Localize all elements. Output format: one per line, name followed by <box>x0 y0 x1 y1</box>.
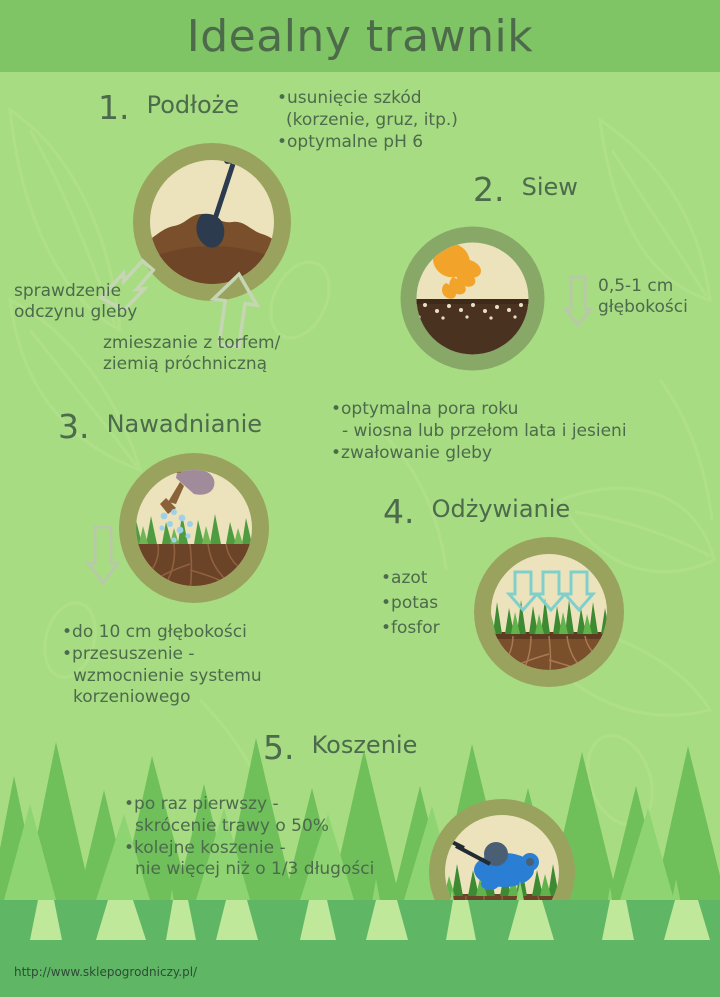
bullet-dot: • <box>62 622 72 642</box>
bullet-dot: • <box>381 568 391 588</box>
arrow-watering-depth <box>85 525 123 587</box>
step-2-illustration-sowing <box>399 225 546 372</box>
step-1-number: 1. <box>98 88 130 127</box>
bullet-dot: • <box>124 794 134 814</box>
step-3-heading: 3. Nawadnianie <box>58 407 262 446</box>
bullet-dot: • <box>62 644 72 664</box>
step-3-illustration-watering <box>118 452 270 604</box>
step-1-bullets: •usunięcie szkód (korzenie, gruz, itp.) … <box>277 88 458 153</box>
page-title: Idealny trawnik <box>187 11 533 62</box>
infographic-canvas: Idealny trawnik 1. Podłoże •usunięcie sz… <box>0 0 720 997</box>
list-item: •po raz pierwszy - <box>124 794 374 816</box>
footer-grass-top <box>0 900 720 940</box>
header-band: Idealny trawnik <box>0 0 720 72</box>
list-item: •fosfor <box>381 616 440 641</box>
step-3-number: 3. <box>58 407 90 446</box>
bullet-dot: • <box>381 618 391 638</box>
source-url[interactable]: http://www.sklepogrodniczy.pl/ <box>14 965 197 979</box>
list-item: •kolejne koszenie - <box>124 838 374 860</box>
step-4-bullets: •azot •potas •fosfor <box>381 566 440 641</box>
list-item: •optymalne pH 6 <box>277 132 458 154</box>
step-3-bullets: •do 10 cm głębokości •przesuszenie - wzm… <box>62 622 262 709</box>
step-5-title: Koszenie <box>312 731 418 759</box>
list-item: •zwałowanie gleby <box>331 443 627 465</box>
step-1-title: Podłoże <box>147 91 239 119</box>
step-3-title: Nawadnianie <box>107 410 262 438</box>
list-item: •do 10 cm głębokości <box>62 622 262 644</box>
bullet-dot: • <box>124 838 134 858</box>
list-item: skrócenie trawy o 50% <box>124 816 374 838</box>
list-item: korzeniowego <box>62 687 262 709</box>
list-item: •potas <box>381 591 440 616</box>
step-4-title: Odżywianie <box>432 495 571 523</box>
step-5-bullets: •po raz pierwszy - skrócenie trawy o 50%… <box>124 794 374 881</box>
footer-band: http://www.sklepogrodniczy.pl/ <box>0 900 720 997</box>
nutrient-arrows-grass-icon <box>473 536 625 688</box>
step-2-bullets: •optymalna pora roku - wiosna lub przeło… <box>331 399 627 464</box>
bullet-dot: • <box>331 443 341 463</box>
arrow-sowing-depth <box>563 275 595 329</box>
bullet-dot: • <box>381 593 391 613</box>
step-1-note-peat: zmieszanie z torfem/ ziemią próchniczną <box>103 333 280 376</box>
list-item: •azot <box>381 566 440 591</box>
step-2-title: Siew <box>522 173 578 201</box>
list-item: (korzenie, gruz, itp.) <box>277 110 458 132</box>
step-1-heading: 1. Podłoże <box>98 88 239 127</box>
hand-sowing-seeds-icon <box>399 225 546 372</box>
watering-can-icon <box>118 452 270 604</box>
step-5-number: 5. <box>263 728 295 767</box>
list-item: •przesuszenie - <box>62 644 262 666</box>
bullet-dot: • <box>331 399 341 419</box>
list-item: •usunięcie szkód <box>277 88 458 110</box>
bullet-dot: • <box>277 132 287 152</box>
step-2-heading: 2. Siew <box>473 170 578 209</box>
step-1-note-ph: sprawdzenie odczynu gleby <box>14 281 137 324</box>
list-item: •optymalna pora roku <box>331 399 627 421</box>
step-4-heading: 4. Odżywianie <box>383 492 570 531</box>
step-2-depth-label: 0,5-1 cm głębokości <box>598 276 688 319</box>
list-item: - wiosna lub przełom lata i jesieni <box>331 421 627 443</box>
list-item: nie więcej niż o 1/3 długości <box>124 859 374 881</box>
list-item: wzmocnienie systemu <box>62 666 262 688</box>
step-4-illustration-nutrients <box>473 536 625 688</box>
bullet-dot: • <box>277 88 287 108</box>
step-2-number: 2. <box>473 170 505 209</box>
step-5-heading: 5. Koszenie <box>263 728 417 767</box>
step-4-number: 4. <box>383 492 415 531</box>
